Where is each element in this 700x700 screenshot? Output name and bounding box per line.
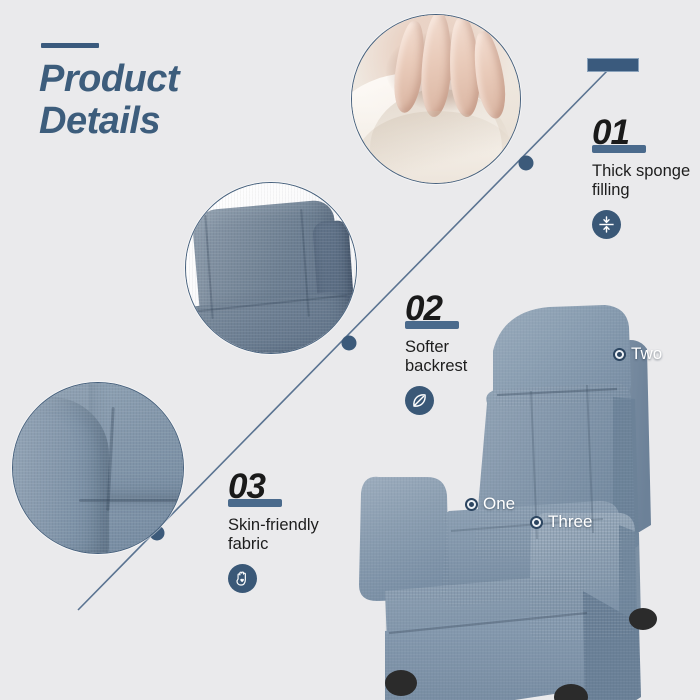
feature-block-01: 01 Thick sponge filling <box>592 116 690 239</box>
callout-marker-icon <box>530 516 543 529</box>
chair-leg <box>629 608 657 630</box>
callout-label: One <box>483 494 515 514</box>
decorative-bar <box>587 58 639 72</box>
callout-marker-icon <box>465 498 478 511</box>
callout-marker-icon <box>613 348 626 361</box>
armrest-fabric-photo <box>12 382 184 554</box>
product-details-infographic: Product Details <box>0 0 700 700</box>
chair-callout-two: Two <box>613 344 662 364</box>
feature-text: Skin-friendly fabric <box>228 516 319 554</box>
callout-label: Two <box>631 344 662 364</box>
chair-callout-one: One <box>465 494 515 514</box>
connector-dot <box>519 156 534 171</box>
page-title: Product Details <box>39 58 289 142</box>
feature-text: Thick sponge filling <box>592 162 690 200</box>
feature-block-03: 03 Skin-friendly fabric <box>228 470 319 593</box>
callout-label: Three <box>548 512 592 532</box>
thickness-arrows-icon <box>592 210 621 239</box>
feature-number: 03 <box>228 470 269 504</box>
chair-leg <box>385 670 417 696</box>
foam-press-image <box>352 15 520 183</box>
foam-press-photo <box>351 14 521 184</box>
armrest-fabric-image <box>13 383 183 553</box>
backrest-cushion-image <box>186 183 356 353</box>
hand-heart-icon <box>228 564 257 593</box>
feature-number: 01 <box>592 116 633 150</box>
chair-callout-three: Three <box>530 512 592 532</box>
title-rule <box>41 43 99 48</box>
backrest-cushion-photo <box>185 182 357 354</box>
